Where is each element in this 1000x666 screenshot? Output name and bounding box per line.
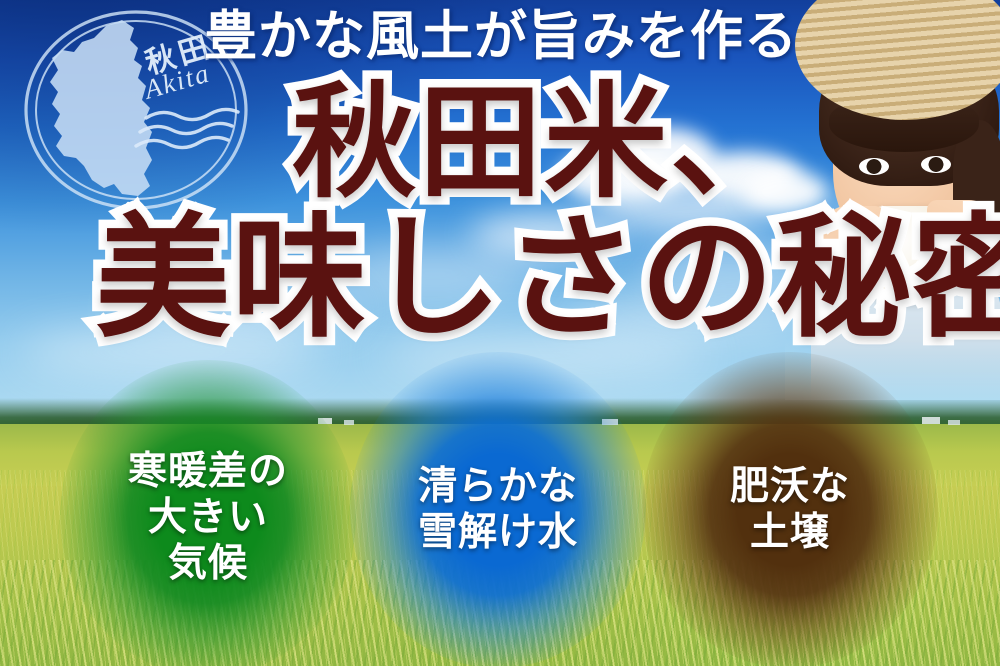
feature-circles: 寒暖差の 大きい 気候 清らかな 雪解け水 肥沃な 土壌 [0, 360, 1000, 666]
feature-climate-line-1: 寒暖差の [128, 449, 288, 495]
akita-rice-promo-banner: 秋田 Akita 豊かな風土が旨みを作る 秋田米、 美味しさの秘密 寒暖差の 大… [0, 0, 1000, 666]
feature-water-line-1: 清らかな [418, 464, 578, 510]
feature-climate-line-3: 気候 [128, 541, 288, 587]
feature-climate-line-2: 大きい [128, 495, 288, 541]
feature-soil-line-1: 肥沃な [730, 464, 850, 510]
headline-line-2: 美味しさの秘密 [96, 212, 1000, 346]
feature-climate-text: 寒暖差の 大きい 気候 [128, 449, 288, 587]
wave-lines [136, 109, 238, 147]
feature-water-line-2: 雪解け水 [418, 510, 578, 556]
feature-circle-snowmelt-water: 清らかな 雪解け水 [368, 370, 628, 650]
child-eye-left [859, 158, 889, 175]
child-eye-right [921, 156, 951, 173]
headline-line-1: 秋田米、 [292, 82, 796, 206]
feature-soil-line-2: 土壌 [730, 510, 850, 556]
feature-circle-fertile-soil: 肥沃な 土壌 [660, 370, 920, 650]
feature-water-text: 清らかな 雪解け水 [418, 464, 578, 556]
feature-soil-text: 肥沃な 土壌 [730, 464, 850, 556]
feature-circle-climate: 寒暖差の 大きい 気候 [78, 378, 338, 658]
banner-subtitle: 豊かな風土が旨みを作る [196, 10, 806, 66]
